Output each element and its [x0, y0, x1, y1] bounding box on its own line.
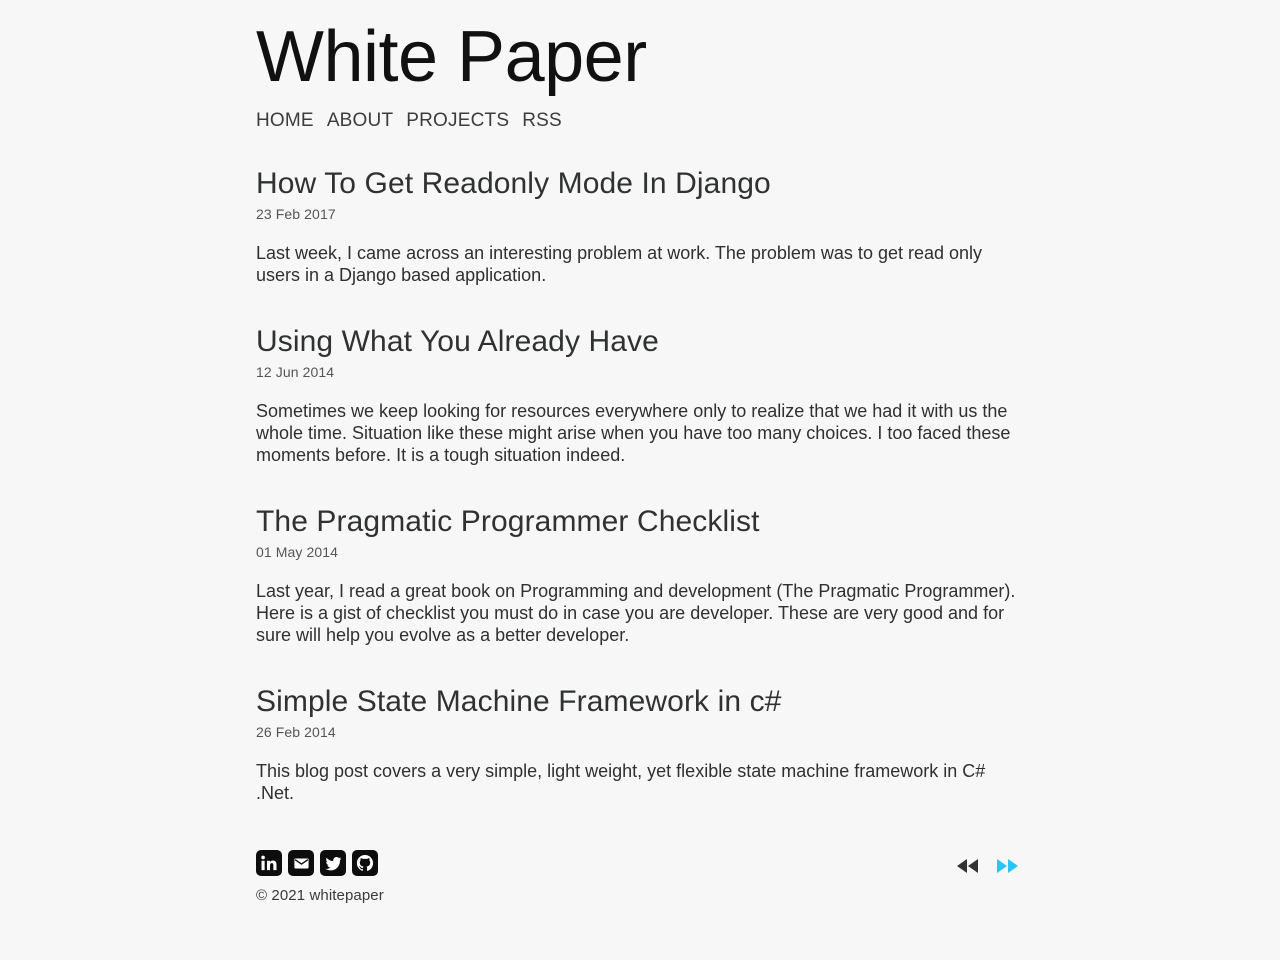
- page-title: White Paper: [256, 14, 1024, 100]
- twitter-icon[interactable]: [320, 850, 346, 876]
- site-header: White Paper HOME ABOUT PROJECTS RSS: [256, 14, 1024, 132]
- site-footer: © 2021 whitepaper: [256, 850, 1024, 920]
- content-container: White Paper HOME ABOUT PROJECTS RSS How …: [256, 0, 1024, 920]
- nav-link-projects[interactable]: PROJECTS: [406, 110, 509, 132]
- copyright-text: © 2021 whitepaper: [256, 886, 1024, 906]
- post-item: The Pragmatic Programmer Checklist 01 Ma…: [256, 504, 1024, 646]
- post-date: 01 May 2014: [256, 542, 1024, 562]
- post-excerpt: Last year, I read a great book on Progra…: [256, 580, 1024, 646]
- post-title-link[interactable]: How To Get Readonly Mode In Django: [256, 166, 1024, 202]
- nav-link-home[interactable]: HOME: [256, 110, 314, 132]
- post-item: Simple State Machine Framework in c# 26 …: [256, 684, 1024, 804]
- post-excerpt: Last week, I came across an interesting …: [256, 242, 1024, 286]
- linkedin-icon[interactable]: [256, 850, 282, 876]
- post-date: 23 Feb 2017: [256, 204, 1024, 224]
- email-icon[interactable]: [288, 850, 314, 876]
- pagination: [952, 856, 1024, 876]
- previous-page-button[interactable]: [952, 856, 982, 876]
- nav-link-rss[interactable]: RSS: [522, 110, 562, 132]
- post-title-link[interactable]: Using What You Already Have: [256, 324, 1024, 360]
- post-title-link[interactable]: The Pragmatic Programmer Checklist: [256, 504, 1024, 540]
- post-date: 12 Jun 2014: [256, 362, 1024, 382]
- fast-forward-icon: [994, 856, 1024, 876]
- social-links: [256, 850, 1024, 876]
- next-page-button[interactable]: [994, 856, 1024, 876]
- nav-link-about[interactable]: ABOUT: [327, 110, 393, 132]
- post-excerpt: This blog post covers a very simple, lig…: [256, 760, 1024, 804]
- post-excerpt: Sometimes we keep looking for resources …: [256, 400, 1024, 466]
- fast-backward-icon: [952, 856, 982, 876]
- page-root: White Paper HOME ABOUT PROJECTS RSS How …: [0, 0, 1280, 960]
- post-item: How To Get Readonly Mode In Django 23 Fe…: [256, 166, 1024, 286]
- post-item: Using What You Already Have 12 Jun 2014 …: [256, 324, 1024, 466]
- main-navigation: HOME ABOUT PROJECTS RSS: [256, 110, 1024, 132]
- github-icon[interactable]: [352, 850, 378, 876]
- post-list: How To Get Readonly Mode In Django 23 Fe…: [256, 166, 1024, 804]
- post-title-link[interactable]: Simple State Machine Framework in c#: [256, 684, 1024, 720]
- post-date: 26 Feb 2014: [256, 722, 1024, 742]
